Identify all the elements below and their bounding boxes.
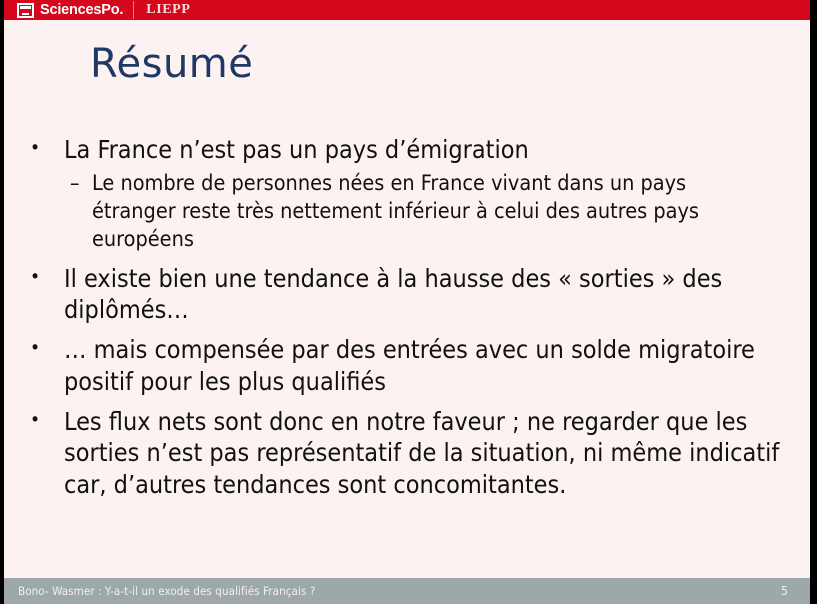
letterbox-right	[810, 0, 817, 604]
slide-body: • La France n’est pas un pays d’émigrati…	[30, 134, 790, 503]
bullet-item: • Il existe bien une tendance à la hauss…	[30, 263, 790, 327]
brand-sub-name: LIEPP	[146, 3, 190, 17]
slide-title: Résumé	[90, 42, 253, 86]
sub-bullet-marker-icon: –	[70, 170, 92, 197]
bullet-item: • Les flux nets sont donc en notre faveu…	[30, 406, 790, 501]
sub-bullet-item: – Le nombre de personnes nées en France …	[70, 170, 770, 254]
bullet-marker-icon: •	[30, 334, 64, 363]
bullet-marker-icon: •	[30, 134, 64, 163]
brand-divider	[133, 1, 134, 19]
slide-canvas: SciencesPo. LIEPP Résumé • La France n’e…	[4, 0, 810, 604]
bullet-item: • … mais compensée par des entrées avec …	[30, 334, 790, 398]
bullet-marker-icon: •	[30, 263, 64, 292]
presentation-slide: SciencesPo. LIEPP Résumé • La France n’e…	[0, 0, 817, 604]
slide-footer: Bono- Wasmer : Y-a-t-il un exode des qua…	[4, 578, 810, 604]
bullet-text: La France n’est pas un pays d’émigration	[64, 134, 790, 166]
sciencespo-crest-icon	[17, 3, 34, 18]
sub-bullet-text: Le nombre de personnes nées en France vi…	[92, 170, 770, 254]
brand-name: SciencesPo.	[40, 3, 123, 18]
bullet-marker-icon: •	[30, 406, 64, 435]
footer-title: Bono- Wasmer : Y-a-t-il un exode des qua…	[18, 584, 315, 598]
bullet-text: … mais compensée par des entrées avec un…	[64, 334, 790, 398]
page-number: 5	[781, 584, 788, 598]
bullet-item: • La France n’est pas un pays d’émigrati…	[30, 134, 790, 166]
bullet-text: Il existe bien une tendance à la hausse …	[64, 263, 790, 327]
brand-banner: SciencesPo. LIEPP	[4, 0, 810, 20]
bullet-text: Les flux nets sont donc en notre faveur …	[64, 406, 790, 501]
